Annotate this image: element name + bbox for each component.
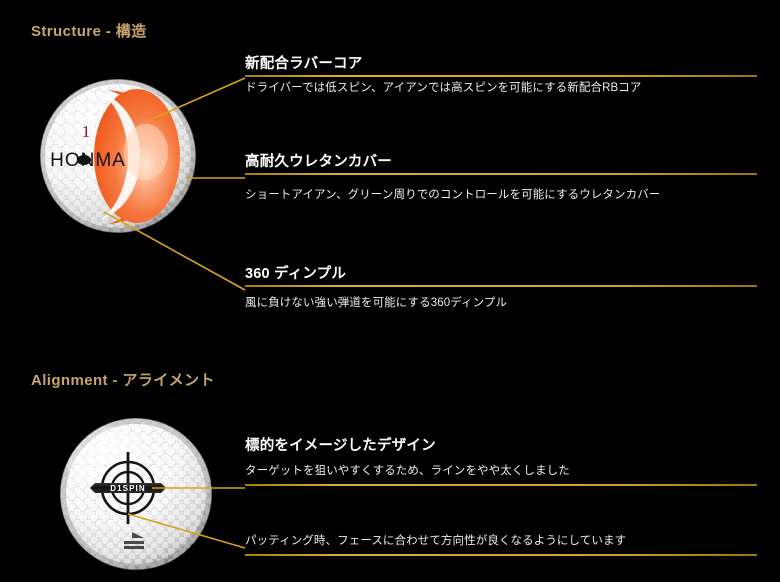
callout-desc: ドライバーでは低スピン、アイアンでは高スピンを可能にする新配合RBコア [245,81,757,96]
callout-rule [245,484,757,486]
callout-rule [245,554,757,556]
cutaway-golf-ball-image: 1 HONMA [36,74,206,239]
callout-rule [245,75,757,77]
callout-desc: ターゲットを狙いやすくするため、ラインをやや太くしました [245,464,757,479]
callout-head: 高耐久ウレタンカバー [245,154,757,170]
section-title-structure: Structure - 構造 [31,20,147,41]
callout-head: 新配合ラバーコア [245,56,757,72]
callout-alignment-1: ターゲットを狙いやすくするため、ラインをやや太くしました [245,464,757,486]
callout-alignment-0: 標的をイメージしたデザイン [245,438,757,454]
callout-alignment-2: パッティング時、フェースに合わせて方向性が良くなるようにしています [245,534,757,556]
callout-head: 標的をイメージしたデザイン [245,438,757,454]
callout-desc: 風に負けない強い弾道を可能にする360ディンプル [245,296,757,311]
section-title-alignment: Alignment - アライメント [31,369,215,390]
callout-desc: パッティング時、フェースに合わせて方向性が良くなるようにしています [245,534,757,549]
alignment-golf-ball-image: D1SPIN [58,416,214,572]
callout-desc: ショートアイアン、グリーン周りでのコントロールを可能にするウレタンカバー [245,188,757,203]
callout-structure-2: 高耐久ウレタンカバー ショートアイアン、グリーン周りでのコントロールを可能にする… [245,154,757,203]
callout-structure-3: 360 ディンプル 風に負けない強い弾道を可能にする360ディンプル [245,266,757,311]
ball-mark-text: D1SPIN [110,484,146,493]
slide-canvas: Structure - 構造 Alignment - アライメント [0,0,780,582]
callout-rule [245,285,757,287]
callout-structure-1: 新配合ラバーコア ドライバーでは低スピン、アイアンでは高スピンを可能にする新配合… [245,56,757,96]
callout-rule [245,173,757,175]
ball-number-text: 1 [82,122,91,141]
callout-head: 360 ディンプル [245,266,757,282]
